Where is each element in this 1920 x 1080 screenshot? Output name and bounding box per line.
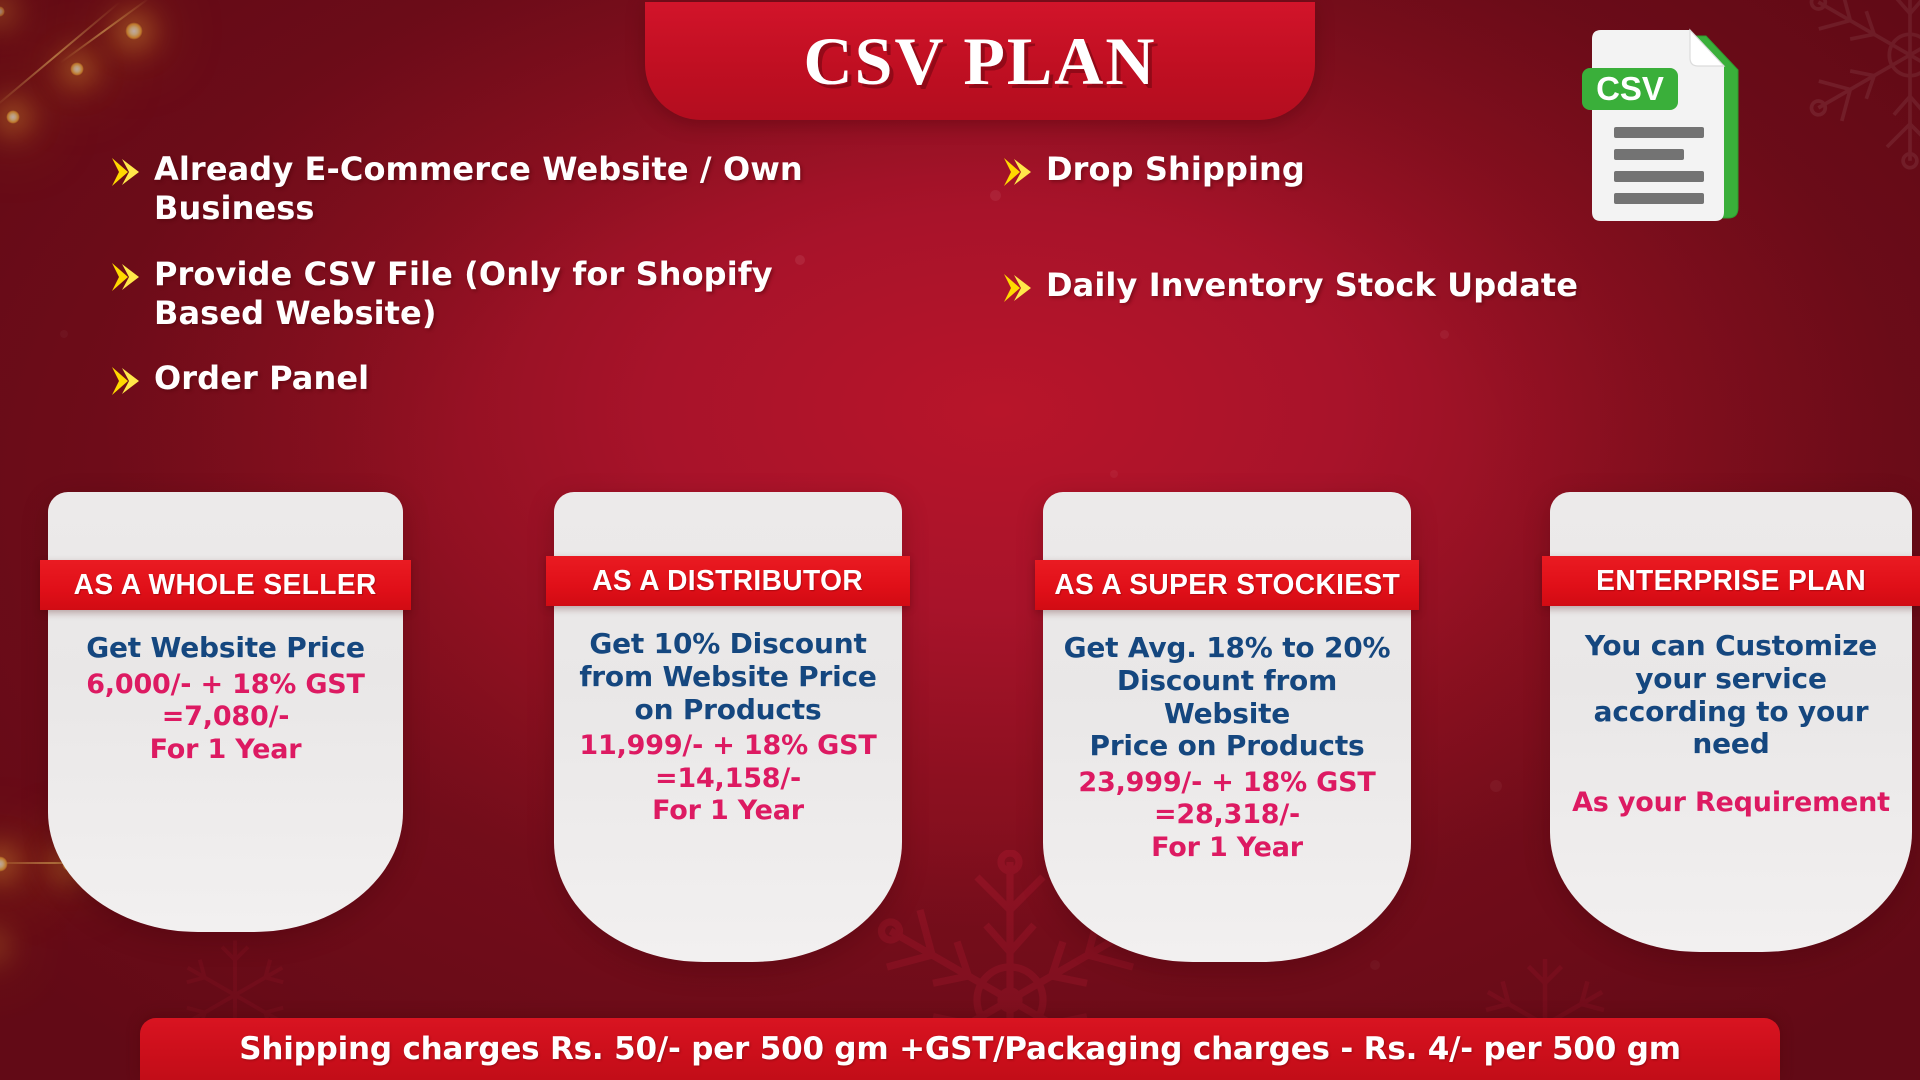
plan-lead-text: Get Avg. 18% to 20% Discount from Websit…: [1053, 632, 1401, 763]
chevron-right-icon: [108, 364, 142, 403]
plan-lead-text: Get 10% Discount from Website Price on P…: [564, 628, 892, 726]
feature-label: Drop Shipping: [1046, 150, 1305, 189]
csv-badge-label: CSV: [1596, 70, 1664, 107]
plan-card-whole-seller[interactable]: AS A WHOLE SELLER Get Website Price 6,00…: [48, 492, 403, 932]
plan-ribbon: AS A DISTRIBUTOR: [546, 556, 910, 606]
feature-label: Order Panel: [154, 359, 369, 398]
feature-label: Daily Inventory Stock Update: [1046, 266, 1578, 305]
plan-ribbon-label: AS A WHOLE SELLER: [74, 569, 377, 602]
plan-card-super-stockiest[interactable]: AS A SUPER STOCKIEST Get Avg. 18% to 20%…: [1043, 492, 1411, 962]
feature-label: Provide CSV File (Only for Shopify Based…: [154, 255, 888, 334]
plan-card-body: Get Website Price 6,000/- + 18% GST =7,0…: [48, 632, 403, 766]
plan-price-text: 23,999/- + 18% GST =28,318/- For 1 Year: [1053, 767, 1401, 864]
feature-label: Already E-Commerce Website / Own Busines…: [154, 150, 888, 229]
plan-price-text: 11,999/- + 18% GST =14,158/- For 1 Year: [564, 730, 892, 827]
plan-ribbon: AS A SUPER STOCKIEST: [1035, 560, 1419, 610]
footer-banner-text: Shipping charges Rs. 50/- per 500 gm +GS…: [239, 1031, 1681, 1067]
plan-card-body: Get 10% Discount from Website Price on P…: [554, 628, 902, 827]
plan-ribbon-label: AS A DISTRIBUTOR: [593, 565, 864, 598]
page-title: CSV PLAN: [804, 22, 1157, 101]
plan-price-text: As your Requirement: [1560, 787, 1902, 819]
chevron-right-icon: [108, 260, 142, 299]
plan-ribbon: AS A WHOLE SELLER: [40, 560, 411, 610]
plan-ribbon: ENTERPRISE PLAN: [1542, 556, 1920, 606]
chevron-right-icon: [1000, 155, 1034, 194]
plan-cards: AS A WHOLE SELLER Get Website Price 6,00…: [0, 492, 1920, 962]
page-title-banner: CSV PLAN: [645, 2, 1315, 120]
chevron-right-icon: [1000, 271, 1034, 310]
plan-lead-text: Get Website Price: [58, 632, 393, 665]
feature-item: Provide CSV File (Only for Shopify Based…: [108, 255, 888, 334]
feature-column-left: Already E-Commerce Website / Own Busines…: [108, 150, 888, 429]
feature-item: Order Panel: [108, 359, 888, 403]
plan-ribbon-label: AS A SUPER STOCKIEST: [1054, 569, 1400, 602]
plan-lead-text: You can Customize your service according…: [1560, 630, 1902, 761]
feature-item: Drop Shipping: [1000, 150, 1720, 194]
plan-card-enterprise[interactable]: ENTERPRISE PLAN You can Customize your s…: [1550, 492, 1912, 952]
plan-card-body: You can Customize your service according…: [1550, 630, 1912, 819]
chevron-right-icon: [108, 155, 142, 194]
plan-card-body: Get Avg. 18% to 20% Discount from Websit…: [1043, 632, 1411, 864]
feature-item: Daily Inventory Stock Update: [1000, 266, 1720, 310]
feature-item: Already E-Commerce Website / Own Busines…: [108, 150, 888, 229]
plan-card-distributor[interactable]: AS A DISTRIBUTOR Get 10% Discount from W…: [554, 492, 902, 962]
plan-ribbon-label: ENTERPRISE PLAN: [1596, 565, 1866, 598]
footer-banner: Shipping charges Rs. 50/- per 500 gm +GS…: [140, 1018, 1780, 1080]
feature-column-right: Drop Shipping Daily Inventory Stock Upda…: [1000, 150, 1720, 336]
plan-price-text: 6,000/- + 18% GST =7,080/- For 1 Year: [58, 669, 393, 766]
